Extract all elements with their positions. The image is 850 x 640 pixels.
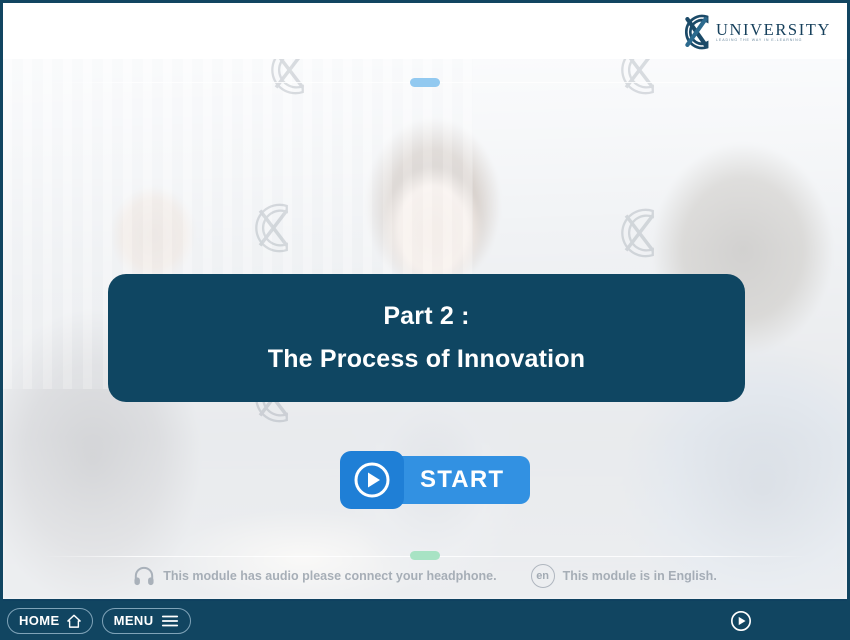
brand-logo-title: UNIVERSITY bbox=[716, 21, 831, 38]
home-button-label: HOME bbox=[19, 613, 60, 628]
brand-logo-tagline: LEADING THE WAY IN E-LEARNING bbox=[716, 39, 802, 43]
audio-footnote: This module has audio please connect you… bbox=[133, 566, 496, 586]
start-button-label: START bbox=[420, 466, 504, 494]
language-footnote: en This module is in English. bbox=[531, 564, 717, 588]
hamburger-icon bbox=[161, 614, 179, 628]
bottom-decoration-pill bbox=[410, 551, 440, 560]
xc-monogram-logo-icon bbox=[678, 13, 718, 51]
start-label-box[interactable]: START bbox=[390, 456, 530, 504]
bottom-bar-right-group[interactable] bbox=[730, 610, 752, 632]
watermark-logo-icon bbox=[261, 59, 319, 99]
title-card: Part 2 : The Process of Innovation bbox=[108, 274, 745, 402]
title-line-1: Part 2 : bbox=[383, 302, 469, 331]
bottom-bar-left-group: HOME MENU bbox=[7, 608, 191, 634]
play-circle-icon[interactable] bbox=[730, 610, 752, 632]
footnote-row: This module has audio please connect you… bbox=[3, 564, 847, 588]
play-circle-icon bbox=[352, 460, 392, 500]
course-slide: Part 2 : The Process of Innovation START bbox=[0, 0, 850, 640]
brand-logo-text: UNIVERSITY LEADING THE WAY IN E-LEARNING bbox=[716, 21, 831, 43]
watermark-logo-icon bbox=[611, 59, 669, 99]
watermark-logo-icon bbox=[611, 204, 669, 262]
start-button[interactable]: START bbox=[340, 451, 530, 509]
brand-logo: UNIVERSITY LEADING THE WAY IN E-LEARNING bbox=[678, 13, 831, 51]
headphone-icon bbox=[133, 566, 155, 586]
home-icon bbox=[67, 614, 81, 628]
home-button[interactable]: HOME bbox=[7, 608, 93, 634]
start-play-icon-box[interactable] bbox=[340, 451, 404, 509]
header-bar: UNIVERSITY LEADING THE WAY IN E-LEARNING bbox=[3, 3, 847, 59]
bottom-navigation-bar: HOME MENU bbox=[0, 601, 850, 640]
language-badge: en bbox=[531, 564, 555, 588]
language-footnote-text: This module is in English. bbox=[563, 569, 717, 583]
title-line-2: The Process of Innovation bbox=[268, 345, 586, 374]
menu-button[interactable]: MENU bbox=[102, 608, 191, 634]
audio-footnote-text: This module has audio please connect you… bbox=[163, 569, 496, 583]
menu-button-label: MENU bbox=[114, 613, 154, 628]
watermark-logo-icon bbox=[245, 199, 303, 257]
top-decoration-pill bbox=[410, 78, 440, 87]
slide-stage: Part 2 : The Process of Innovation START bbox=[3, 59, 847, 599]
